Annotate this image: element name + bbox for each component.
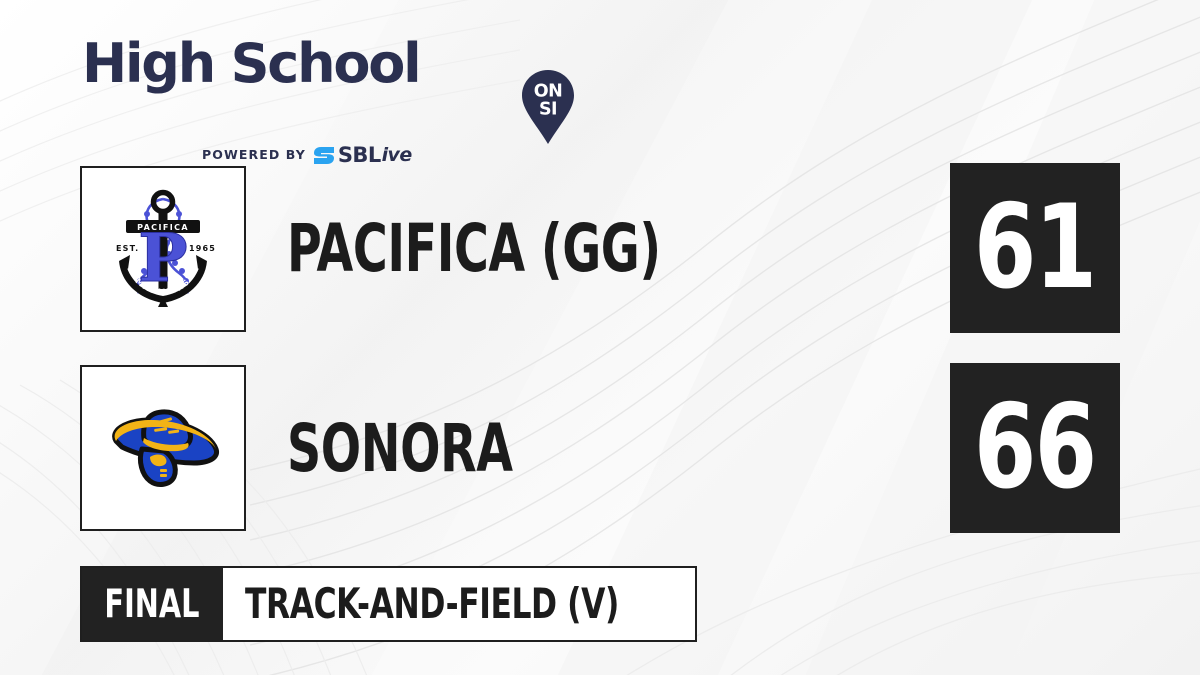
- game-status-badge: FINAL: [82, 568, 223, 640]
- logo-est-label: EST.: [116, 244, 139, 253]
- logo-year-label: 1965: [189, 244, 216, 253]
- team-score-box: 61: [950, 163, 1120, 333]
- game-status-label: FINAL: [105, 585, 200, 624]
- status-bar: FINAL TRACK-AND-FIELD (V): [80, 566, 697, 642]
- powered-by-line: POWERED BY SBL ive: [202, 144, 412, 166]
- team-name: SONORA: [287, 416, 513, 482]
- team-score: 61: [974, 190, 1095, 306]
- brand-header: High School ON SI POWERED BY SBL ive: [82, 36, 512, 136]
- sblive-s-mark-icon: [313, 145, 335, 166]
- sblive-logo: SBL ive: [313, 145, 412, 166]
- team-name: PACIFICA (GG): [287, 216, 661, 282]
- brand-wordmark: High School: [82, 37, 419, 91]
- team-logo-card: PACIFICA MARINERS EST. 1965 P: [80, 166, 246, 332]
- team-score: 66: [974, 390, 1095, 506]
- team-score-box: 66: [950, 363, 1120, 533]
- sblive-wordmark-suffix: ive: [382, 146, 412, 165]
- event-label-container: TRACK-AND-FIELD (V): [223, 568, 695, 640]
- on-si-pin-icon: ON SI: [519, 69, 577, 145]
- powered-by-label: POWERED BY: [202, 149, 306, 162]
- pacifica-mariners-anchor-logo: PACIFICA MARINERS EST. 1965 P: [97, 183, 229, 315]
- pin-line-1: ON: [534, 82, 563, 102]
- scoreboard-graphic: High School ON SI POWERED BY SBL ive: [0, 0, 1200, 675]
- logo-monogram: P: [138, 219, 188, 297]
- event-label: TRACK-AND-FIELD (V): [245, 583, 619, 625]
- team-logo-card: [80, 365, 246, 531]
- sblive-wordmark: SBL: [338, 145, 381, 166]
- pin-line-2: SI: [539, 100, 557, 120]
- sonora-wildcats-hat-logo: [98, 393, 228, 503]
